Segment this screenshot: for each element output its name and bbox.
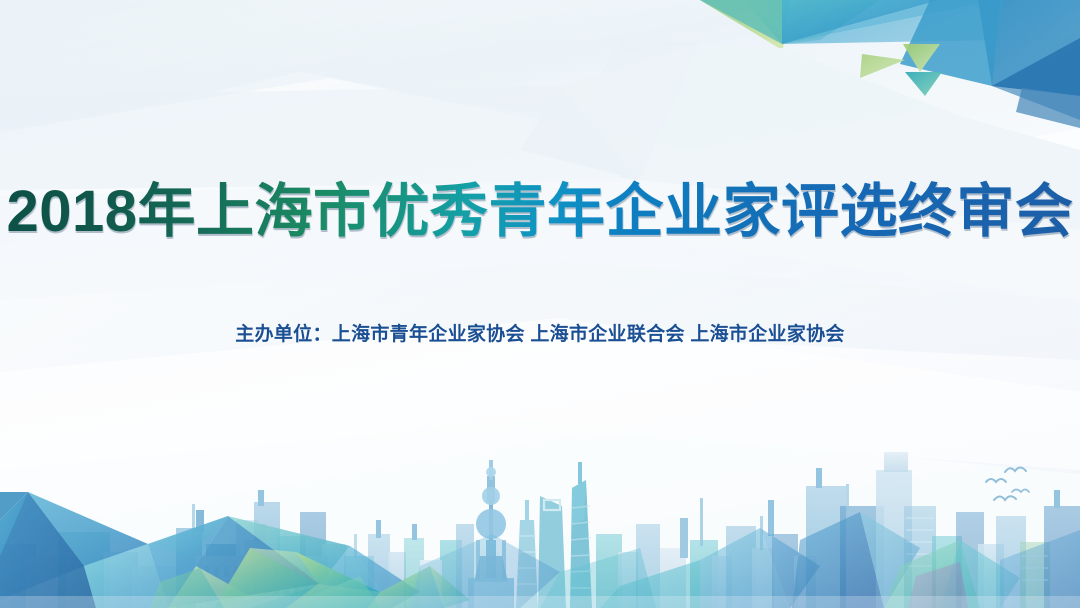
- bird-icon-2: [1005, 468, 1026, 473]
- page-title: 2018年上海市优秀青年企业家评选终审会: [6, 178, 1073, 246]
- subtitle-block: 主办单位：上海市青年企业家协会 上海市企业联合会 上海市企业家协会: [0, 322, 1080, 348]
- organizers-line: 主办单位：上海市青年企业家协会 上海市企业联合会 上海市企业家协会: [235, 322, 844, 348]
- event-poster: 2018年上海市优秀青年企业家评选终审会 2018年上海市优秀青年企业家评选终审…: [0, 0, 1080, 608]
- birds-decor: [0, 0, 1080, 608]
- title-block: 2018年上海市优秀青年企业家评选终审会: [0, 178, 1080, 246]
- bird-icon-4: [1012, 490, 1029, 493]
- bird-icon-3: [994, 496, 1016, 500]
- bird-icon-1: [986, 479, 1006, 482]
